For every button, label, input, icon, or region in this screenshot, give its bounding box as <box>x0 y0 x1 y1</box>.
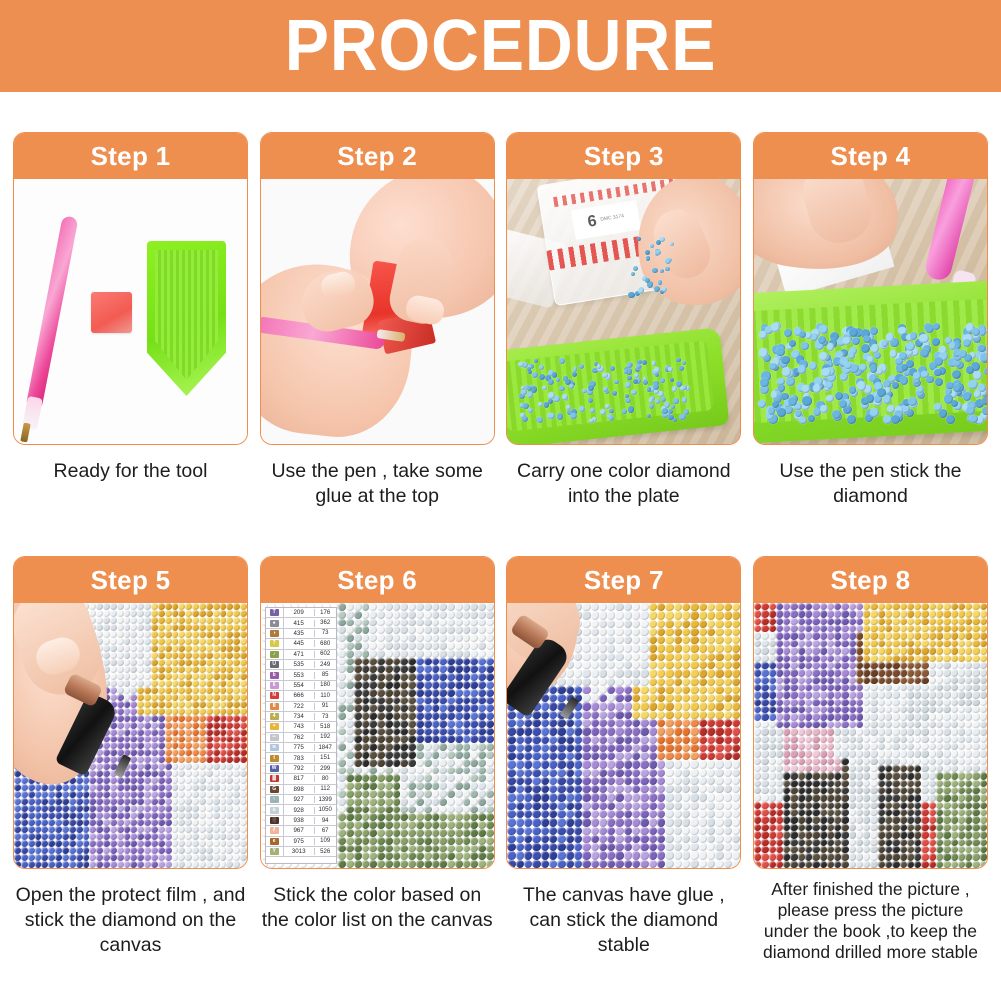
diamond-bead <box>921 662 928 669</box>
diamond-bead <box>863 684 870 691</box>
diamond-bead <box>827 750 834 757</box>
diamond-bead <box>447 712 455 720</box>
diamond-bead <box>226 854 233 861</box>
diamond-bead <box>137 680 144 687</box>
diamond-bead <box>524 818 532 826</box>
diamond-bead <box>914 728 921 735</box>
diamond-bead <box>769 816 776 823</box>
diamond-bead <box>346 712 354 720</box>
diamond-bead <box>463 751 471 759</box>
diamond-bead <box>393 782 401 790</box>
diamond-bead <box>607 752 615 760</box>
chart-symbol-cell: W <box>266 764 284 773</box>
diamond-bead <box>226 749 233 756</box>
diamond-bead <box>354 852 362 860</box>
diamond-bead <box>400 821 408 829</box>
diamond-bead <box>914 794 921 801</box>
diamond-bead <box>907 669 914 676</box>
diamond-bead <box>432 728 440 736</box>
diamond-bead <box>172 603 179 610</box>
diamond-bead <box>798 765 805 772</box>
diamond-bead <box>41 826 48 833</box>
diamond-bead <box>754 662 761 669</box>
diamond-bead <box>805 839 812 846</box>
diamond-bead <box>707 694 715 702</box>
diamond-bead <box>199 763 206 770</box>
diamond-bead <box>393 813 401 821</box>
diamond-bead <box>715 694 723 702</box>
diamond-bead <box>674 752 682 760</box>
diamond-bead <box>549 752 557 760</box>
diamond-bead <box>754 728 761 735</box>
diamond-bead <box>707 644 715 652</box>
diamond-bead <box>682 835 690 843</box>
diamond-bead <box>657 760 665 768</box>
diamond-bead <box>856 610 863 617</box>
diamond-bead <box>682 785 690 793</box>
diamond-bead <box>103 756 110 763</box>
diamond-bead <box>424 821 432 829</box>
diamond-bead <box>640 628 648 636</box>
diamond-bead <box>732 727 740 735</box>
diamond-bead <box>582 827 590 835</box>
diamond-bead <box>158 701 165 708</box>
diamond-bead <box>900 640 907 647</box>
diamond-bead <box>665 851 673 859</box>
diamond-bead <box>541 810 549 818</box>
diamond-bead <box>769 640 776 647</box>
diamond-bead <box>699 835 707 843</box>
diamond-bead <box>944 394 953 403</box>
diamond-bead <box>192 659 199 666</box>
diamond-bead <box>607 686 615 694</box>
diamond-bead <box>346 603 354 611</box>
diamond-bead <box>447 837 455 845</box>
diamond-bead <box>117 840 124 847</box>
diamond-bead <box>393 634 401 642</box>
diamond-bead <box>607 711 615 719</box>
diamond-bead <box>805 816 812 823</box>
diamond-bead <box>69 805 76 812</box>
diamond-bead <box>130 680 137 687</box>
diamond-bead <box>470 852 478 860</box>
diamond-bead <box>69 840 76 847</box>
diamond-bead <box>226 729 233 736</box>
diamond-bead <box>206 631 213 638</box>
diamond-bead <box>507 752 515 760</box>
diamond-bead <box>408 665 416 673</box>
diamond-bead <box>665 777 673 785</box>
diamond-bead <box>137 798 144 805</box>
diamond-bead <box>900 743 907 750</box>
diamond-bead <box>972 618 979 625</box>
diamond-bead <box>665 711 673 719</box>
diamond-bead <box>878 713 885 720</box>
diamond-bead <box>761 640 768 647</box>
diamond-bead <box>834 706 841 713</box>
diamond-bead <box>754 655 761 662</box>
diamond-bead <box>632 644 640 652</box>
diamond-bead <box>783 662 790 669</box>
diamond-bead <box>369 829 377 837</box>
diamond-bead <box>856 831 863 838</box>
diamond-bead <box>144 756 151 763</box>
diamond-bead <box>549 744 557 752</box>
diamond-bead <box>226 680 233 687</box>
diamond-bead <box>682 686 690 694</box>
diamond-bead <box>144 659 151 666</box>
diamond-bead <box>907 728 914 735</box>
symbol-swatch-icon: ? <box>270 640 279 647</box>
diamond-bead <box>672 386 677 391</box>
diamond-bead <box>185 701 192 708</box>
diamond-bead <box>463 681 471 689</box>
diamond-bead <box>776 618 783 625</box>
diamond-bead <box>151 715 158 722</box>
diamond-bead <box>599 603 607 611</box>
diamond-bead <box>213 784 220 791</box>
diamond-bead <box>885 750 892 757</box>
diamond-bead <box>783 655 790 662</box>
diamond-bead <box>76 777 83 784</box>
diamond-bead <box>786 377 795 386</box>
diamond-bead <box>185 819 192 826</box>
diamond-bead <box>362 837 370 845</box>
diamond-bead <box>790 618 797 625</box>
diamond-bead <box>220 708 227 715</box>
chart-symbol-cell: G <box>266 785 284 794</box>
diamond-bead <box>385 821 393 829</box>
diamond-bead <box>178 666 185 673</box>
diamond-bead <box>943 750 950 757</box>
diamond-bead <box>83 784 90 791</box>
diamond-bead <box>542 386 547 391</box>
diamond-bead <box>144 610 151 617</box>
chart-code-cell: 722 <box>284 703 315 710</box>
diamond-bead <box>943 684 950 691</box>
diamond-bead <box>856 765 863 772</box>
diamond-bead <box>891 415 900 424</box>
diamond-bead <box>665 744 673 752</box>
diamond-bead <box>486 767 494 775</box>
diamond-bead <box>690 661 698 669</box>
diamond-bead <box>96 777 103 784</box>
diamond-bead <box>715 752 723 760</box>
diamond-bead <box>362 852 370 860</box>
diamond-bead <box>776 713 783 720</box>
diamond-bead <box>951 728 958 735</box>
diamond-bead <box>220 645 227 652</box>
diamond-bead <box>699 736 707 744</box>
diamond-bead <box>798 713 805 720</box>
diamond-bead <box>820 706 827 713</box>
diamond-bead <box>582 678 590 686</box>
diamond-bead <box>478 774 486 782</box>
diamond-bead <box>929 655 936 662</box>
diamond-bead <box>507 835 515 843</box>
diamond-bead <box>524 752 532 760</box>
diamond-bead <box>715 827 723 835</box>
diamond-bead <box>900 713 907 720</box>
diamond-bead <box>640 653 648 661</box>
diamond-bead <box>866 394 874 402</box>
diamond-bead <box>849 632 856 639</box>
diamond-bead <box>144 854 151 861</box>
diamond-bead <box>870 625 877 632</box>
diamond-bead <box>878 655 885 662</box>
diamond-bead <box>591 644 599 652</box>
diamond-bead <box>144 770 151 777</box>
diamond-bead <box>640 752 648 760</box>
diamond-bead <box>213 840 220 847</box>
diamond-bead <box>178 701 185 708</box>
diamond-bead <box>761 809 768 816</box>
diamond-bead <box>849 662 856 669</box>
diamond-bead <box>965 655 972 662</box>
diamond-bead <box>393 603 401 611</box>
diamond-bead <box>240 729 247 736</box>
diamond-bead <box>849 794 856 801</box>
diamond-bead <box>627 376 632 381</box>
diamond-bead <box>432 837 440 845</box>
diamond-bead <box>408 767 416 775</box>
diamond-bead <box>834 647 841 654</box>
diamond-bead <box>158 729 165 736</box>
diamond-bead <box>158 659 165 666</box>
diamond-bead <box>582 793 590 801</box>
diamond-bead <box>432 720 440 728</box>
chart-symbol-cell: ▓ <box>266 774 284 783</box>
diamond-bead <box>892 772 899 779</box>
diamond-bead <box>172 840 179 847</box>
diamond-bead <box>790 831 797 838</box>
diamond-bead <box>980 655 987 662</box>
diamond-bead <box>607 802 615 810</box>
diamond-bead <box>972 662 979 669</box>
diamond-bead <box>958 632 965 639</box>
diamond-bead <box>936 794 943 801</box>
diamond-bead <box>812 750 819 757</box>
diamond-bead <box>732 777 740 785</box>
diamond-bead <box>805 794 812 801</box>
diamond-bead <box>524 843 532 851</box>
diamond-bead <box>151 603 158 610</box>
diamond-bead <box>776 632 783 639</box>
diamond-bead <box>185 652 192 659</box>
diamond-bead <box>827 640 834 647</box>
diamond-bead <box>369 658 377 666</box>
diamond-bead <box>966 406 975 415</box>
diamond-bead <box>965 839 972 846</box>
step-header-1: Step 1 <box>14 133 247 179</box>
symbol-swatch-icon: ⫽ <box>270 827 279 834</box>
diamond-bead <box>943 640 950 647</box>
diamond-bead <box>790 713 797 720</box>
diamond-bead <box>117 638 124 645</box>
diamond-bead <box>393 642 401 650</box>
diamond-bead <box>699 719 707 727</box>
symbol-swatch-icon: U <box>270 661 279 668</box>
diamond-bead <box>447 619 455 627</box>
diamond-bead <box>783 684 790 691</box>
diamond-bead <box>463 852 471 860</box>
diamond-bead <box>470 813 478 821</box>
diamond-bead <box>48 847 55 854</box>
diamond-bead <box>566 744 574 752</box>
diamond-bead <box>455 619 463 627</box>
diamond-bead <box>144 777 151 784</box>
diamond-bead <box>144 701 151 708</box>
diamond-bead <box>790 816 797 823</box>
diamond-bead <box>951 831 958 838</box>
diamond-bead <box>812 802 819 809</box>
diamond-bead <box>929 677 936 684</box>
diamond-bead <box>936 721 943 728</box>
diamond-bead <box>574 686 582 694</box>
diamond-bead <box>841 691 848 698</box>
diamond-bead <box>151 687 158 694</box>
diamond-bead <box>385 697 393 705</box>
diamond-bead <box>892 669 899 676</box>
diamond-bead <box>338 665 346 673</box>
diamond-bead <box>377 720 385 728</box>
diamond-bead <box>640 843 648 851</box>
diamond-bead <box>599 769 607 777</box>
diamond-bead <box>682 736 690 744</box>
diamond-bead <box>805 787 812 794</box>
diamond-bead <box>936 802 943 809</box>
diamond-bead <box>732 810 740 818</box>
diamond-bead <box>226 603 233 610</box>
diamond-bead <box>220 784 227 791</box>
diamond-bead <box>849 655 856 662</box>
diamond-bead <box>914 787 921 794</box>
diamond-bead <box>943 794 950 801</box>
diamond-bead <box>124 624 131 631</box>
diamond-bead <box>549 835 557 843</box>
diamond-bead <box>213 680 220 687</box>
diamond-bead <box>699 661 707 669</box>
diamond-bead <box>849 787 856 794</box>
diamond-bead <box>439 704 447 712</box>
diamond-bead <box>769 794 776 801</box>
diamond-bead <box>455 658 463 666</box>
diamond-bead <box>591 653 599 661</box>
diamond-bead <box>980 662 987 669</box>
diamond-bead <box>878 721 885 728</box>
diamond-bead <box>532 827 540 835</box>
diamond-bead <box>62 812 69 819</box>
diamond-bead <box>233 645 240 652</box>
diamond-bead <box>424 735 432 743</box>
diamond-bead <box>914 765 921 772</box>
diamond-bead <box>185 854 192 861</box>
diamond-bead <box>130 673 137 680</box>
diamond-bead <box>103 805 110 812</box>
diamond-bead <box>14 777 21 784</box>
diamond-bead <box>980 669 987 676</box>
diamond-bead <box>416 689 424 697</box>
diamond-bead <box>377 751 385 759</box>
diamond-bead <box>776 691 783 698</box>
diamond-bead <box>582 661 590 669</box>
diamond-bead <box>408 611 416 619</box>
diamond-bead <box>206 666 213 673</box>
diamond-bead <box>732 653 740 661</box>
diamond-bead <box>117 854 124 861</box>
diamond-bead <box>172 777 179 784</box>
diamond-bead <box>921 765 928 772</box>
diamond-bead <box>165 784 172 791</box>
diamond-bead <box>393 798 401 806</box>
diamond-bead <box>124 659 131 666</box>
diamond-bead <box>754 721 761 728</box>
diamond-bead <box>699 851 707 859</box>
diamond-bead <box>632 744 640 752</box>
diamond-bead <box>665 802 673 810</box>
diamond-bead <box>28 819 35 826</box>
diamond-bead <box>640 711 648 719</box>
diamond-bead <box>615 843 623 851</box>
diamond-bead <box>28 833 35 840</box>
diamond-bead <box>549 760 557 768</box>
diamond-bead <box>834 618 841 625</box>
diamond-bead <box>624 686 632 694</box>
diamond-bead <box>117 777 124 784</box>
diamond-bead <box>424 689 432 697</box>
diamond-bead <box>649 603 657 611</box>
diamond-bead <box>55 798 62 805</box>
symbol-swatch-icon: e <box>270 838 279 845</box>
diamond-bead <box>777 378 784 385</box>
diamond-bead <box>885 655 892 662</box>
diamond-bead <box>233 756 240 763</box>
diamond-bead <box>541 760 549 768</box>
diamond-bead <box>507 744 515 752</box>
diamond-bead <box>943 618 950 625</box>
diamond-bead <box>220 673 227 680</box>
diamond-bead <box>665 678 673 686</box>
diamond-bead <box>158 749 165 756</box>
diamond-bead <box>599 860 607 868</box>
diamond-bead <box>914 772 921 779</box>
diamond-bead <box>400 813 408 821</box>
diamond-bead <box>599 744 607 752</box>
diamond-bead <box>665 603 673 611</box>
diamond-bead <box>783 787 790 794</box>
diamond-bead <box>206 708 213 715</box>
diamond-bead <box>665 727 673 735</box>
diamond-bead <box>62 819 69 826</box>
diamond-bead <box>849 691 856 698</box>
diamond-bead <box>657 810 665 818</box>
diamond-bead <box>724 736 732 744</box>
diamond-bead <box>447 743 455 751</box>
diamond-bead <box>408 697 416 705</box>
diamond-bead <box>841 816 848 823</box>
diamond-bead <box>158 763 165 770</box>
diamond-bead <box>165 694 172 701</box>
diamond-bead <box>943 603 950 610</box>
diamond-bead <box>151 763 158 770</box>
diamond-bead <box>965 713 972 720</box>
diamond-bead <box>192 847 199 854</box>
diamond-bead <box>541 769 549 777</box>
diamond-bead <box>943 802 950 809</box>
diamond-bead <box>424 782 432 790</box>
diamond-bead <box>907 816 914 823</box>
diamond-bead <box>213 645 220 652</box>
